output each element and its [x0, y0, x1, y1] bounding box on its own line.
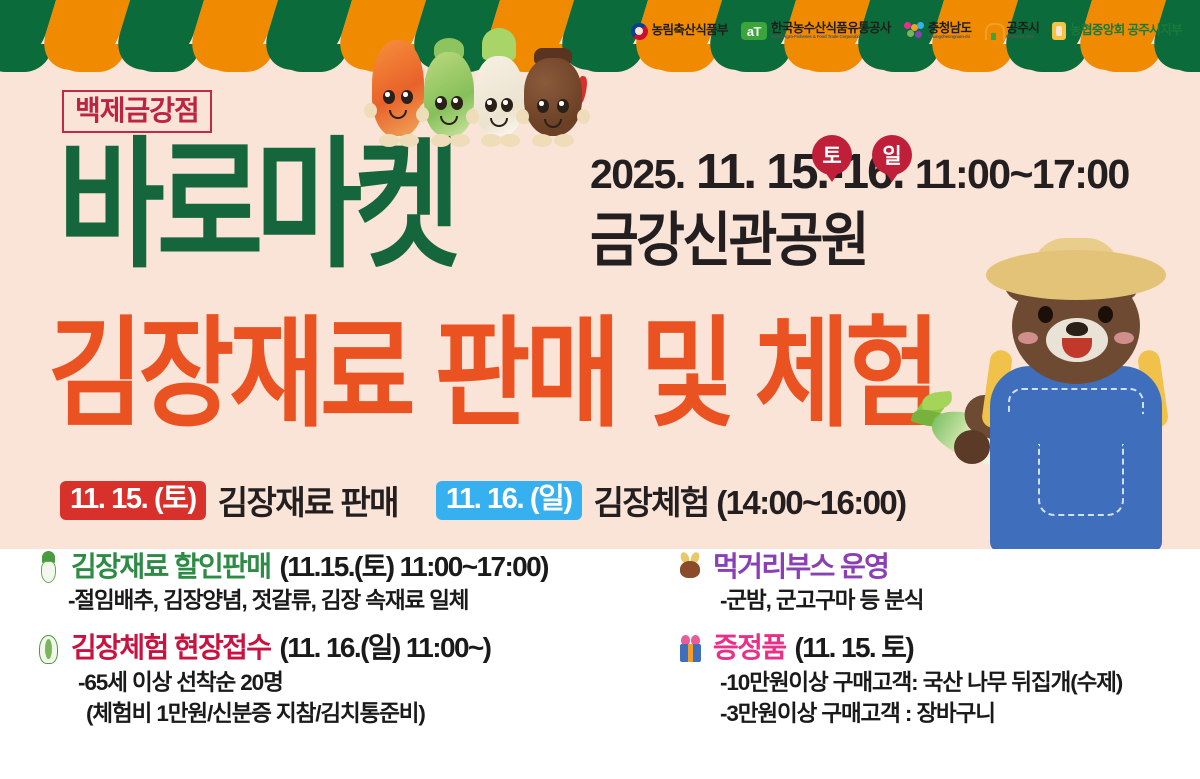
character-eye-left [537, 99, 549, 113]
sale-date-badge: 11. 15. (토) [60, 481, 206, 520]
character-mouth [490, 118, 508, 127]
flower-petal [907, 30, 914, 37]
info-section: 김장재료 할인판매 (11.15.(토) 11:00~17:00)-절임배추, … [0, 549, 1200, 779]
character-eye-left [485, 98, 497, 112]
sponsor-name-en: Korea Agro-Fisheries & Food Trade Corpor… [771, 35, 889, 40]
character-arm-right [577, 109, 590, 124]
saturday-badge: 토 [812, 135, 852, 175]
character-foot-left [379, 134, 399, 147]
sponsor-logo-2: aT한국농수산식품유통공사Korea Agro-Fisheries & Food… [741, 22, 891, 40]
character-arm-left [364, 103, 377, 118]
character-eye-left [435, 96, 447, 110]
date-year: 2025. [590, 151, 685, 197]
white-radish-character [474, 56, 524, 136]
info-block-line: -군밤, 군고구마 등 분식 [676, 585, 1196, 616]
sponsor-logo-text: 공주시GONGJU CITY [1006, 22, 1039, 40]
farmer-bear-mascot [946, 248, 1200, 549]
info-block-heading: 김장재료 할인판매 (11.15.(토) 11:00~17:00) [34, 549, 654, 585]
character-body [424, 52, 474, 136]
info-column-right: 먹거리부스 운영-군밤, 군고구마 등 분식증정품 (11. 15. 토)-10… [676, 549, 1196, 743]
sponsor-logo-5: 농협중앙회 공주시지부 [1052, 22, 1182, 40]
info-block-line: -3만원이상 구매고객 : 장바구니 [676, 698, 1196, 729]
character-mouth [544, 119, 562, 128]
info-block-title: 먹거리부스 운영 [713, 549, 888, 585]
vegetable-characters [372, 14, 592, 150]
info-block-line: -10만원이상 구매고객: 국산 나무 뒤집개(수제) [676, 667, 1196, 698]
info-block-line: -65세 이상 선착순 20명 [34, 667, 654, 698]
cabbage-icon [34, 633, 62, 665]
sponsor-logo-text: 농협중앙회 공주시지부 [1070, 24, 1182, 37]
nonghyup-icon [1052, 22, 1066, 40]
bear-paw [954, 430, 990, 464]
event-date-line: 2025. 11. 15.-16. 11:00~17:00 [590, 148, 1129, 197]
radish-icon [34, 551, 62, 583]
poster-root: 농림축산식품부aT한국농수산식품유통공사Korea Agro-Fisheries… [0, 0, 1200, 779]
info-block-heading: 김장체험 현장접수 (11. 16.(일) 11:00~) [34, 630, 654, 666]
onggi-pot-character [524, 58, 582, 136]
sale-label: 김장재료 판매 [218, 476, 398, 524]
character-eye-left [383, 90, 395, 104]
experience-label: 김장체험 (14:00~16:00) [594, 476, 906, 524]
kimchi-cabbage-character [372, 40, 424, 136]
sponsor-logo-1: 농림축산식품부 [631, 23, 728, 40]
bear-bib-stitching [1008, 388, 1144, 414]
character-eye-right [501, 98, 513, 112]
info-block-line: (체험비 1만원/신분증 지참/김치통준비) [34, 698, 654, 729]
character-mouth [389, 110, 407, 119]
character-body [372, 40, 424, 136]
sponsor-name-ko: 농협중앙회 공주시지부 [1070, 24, 1182, 37]
bear-pocket [1038, 444, 1124, 516]
flower-icon [904, 22, 924, 40]
character-eye-right [557, 99, 569, 113]
info-column-left: 김장재료 할인판매 (11.15.(토) 11:00~17:00)-절임배추, … [34, 549, 654, 743]
character-foot-right [554, 134, 574, 147]
sponsor-logo-text: 농림축산식품부 [652, 24, 728, 37]
info-block-heading: 증정품 (11. 15. 토) [676, 630, 1196, 666]
character-mouth [440, 116, 458, 125]
sponsor-logo-4: 공주시GONGJU CITY [984, 22, 1039, 40]
bear-cheek-right [1114, 332, 1134, 344]
character-arm-left [466, 109, 479, 124]
flower-petal [917, 22, 924, 29]
bear-eye-right [1098, 306, 1113, 323]
page-title: 바로마켓 [58, 137, 453, 276]
info-block-title: 증정품 [713, 630, 785, 666]
info-block: 먹거리부스 운영-군밤, 군고구마 등 분식 [676, 549, 1196, 616]
character-eye-right [401, 90, 413, 104]
character-foot-left [431, 134, 451, 147]
character-foot-right [450, 134, 470, 147]
event-headline: 김장재료 판매 및 체험 [48, 315, 936, 435]
sponsor-logo-3: 충청남도Chungcheongnam-do [904, 22, 972, 40]
info-block-suffix: (11.15.(토) 11:00~17:00) [279, 549, 547, 585]
sponsor-logo-text: 한국농수산식품유통공사Korea Agro-Fisheries & Food T… [771, 22, 891, 40]
awning-scallop [1162, 44, 1200, 72]
sponsor-name-ko: 농림축산식품부 [652, 24, 728, 37]
hero-panel: 농림축산식품부aT한국농수산식품유통공사Korea Agro-Fisheries… [0, 0, 1200, 549]
event-time: 11:00~17:00 [915, 151, 1129, 197]
character-foot-left [532, 134, 552, 147]
flower-petal [904, 22, 911, 29]
sponsor-logo-text: 충청남도Chungcheongnam-do [928, 22, 972, 40]
venue-name: 금강신관공원 [590, 211, 867, 270]
character-foot-right [500, 134, 520, 147]
info-block-suffix: (11. 16.(일) 11:00~) [279, 630, 490, 666]
character-foot-left [481, 134, 501, 147]
info-block: 증정품 (11. 15. 토)-10만원이상 구매고객: 국산 나무 뒤집개(수… [676, 630, 1196, 728]
experience-date-badge: 11. 16. (일) [436, 481, 582, 520]
character-body [524, 58, 582, 136]
character-arm-left [416, 107, 429, 122]
arch-icon [984, 22, 1002, 40]
info-block-suffix: (11. 15. 토) [794, 630, 913, 666]
green-cabbage-character [424, 52, 474, 136]
flower-petal [915, 31, 922, 38]
sponsor-name-en: GONGJU CITY [1006, 35, 1038, 40]
sunday-badge: 일 [872, 135, 912, 175]
bear-cheek-left [1018, 332, 1038, 344]
info-block-title: 김장체험 현장접수 [71, 630, 270, 666]
character-eye-right [451, 96, 463, 110]
info-block-line: -절임배추, 김장양념, 젓갈류, 김장 속재료 일체 [34, 585, 654, 616]
chestnut-icon [676, 551, 704, 583]
sponsor-logo-bar: 농림축산식품부aT한국농수산식품유통공사Korea Agro-Fisheries… [631, 22, 1182, 40]
character-body [474, 56, 524, 136]
info-block-title: 김장재료 할인판매 [71, 549, 270, 585]
gift-icon [676, 633, 704, 665]
taeguk-icon [631, 23, 648, 40]
bear-straw-hat [986, 250, 1166, 300]
info-block-heading: 먹거리부스 운영 [676, 549, 1196, 585]
info-block: 김장체험 현장접수 (11. 16.(일) 11:00~)-65세 이상 선착순… [34, 630, 654, 728]
bear-eye-left [1038, 306, 1053, 323]
schedule-badge-row: 11. 15. (토) 김장재료 판매 11. 16. (일) 김장체험 (14… [60, 476, 906, 524]
bear-nose [1066, 322, 1088, 336]
at-logo-icon: aT [741, 22, 767, 40]
character-foot-right [399, 134, 419, 147]
character-arm-left [516, 109, 529, 124]
info-block: 김장재료 할인판매 (11.15.(토) 11:00~17:00)-절임배추, … [34, 549, 654, 616]
sponsor-name-en: Chungcheongnam-do [928, 35, 971, 40]
